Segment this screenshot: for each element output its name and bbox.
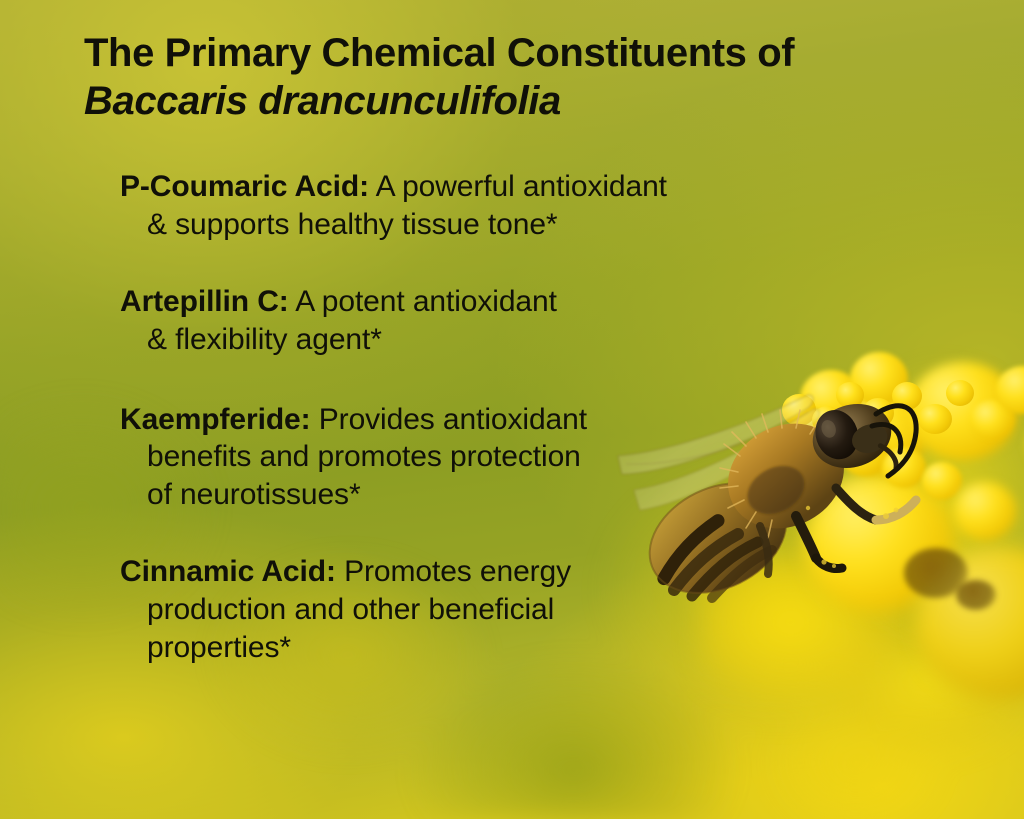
constituent-desc-line: of neurotissues*	[120, 476, 920, 514]
constituent-headline: Cinnamic Acid: Promotes energy	[120, 553, 920, 591]
constituents-list: P-Coumaric Acid: A powerful antioxidant …	[120, 168, 920, 666]
list-item: P-Coumaric Acid: A powerful antioxidant …	[120, 168, 920, 243]
constituent-desc-first: A potent antioxidant	[289, 285, 557, 318]
constituent-desc-first: A powerful antioxidant	[369, 170, 667, 203]
constituent-desc-line: properties*	[120, 629, 920, 667]
constituent-headline: Kaempferide: Provides antioxidant	[120, 401, 920, 439]
constituent-headline: P-Coumaric Acid: A powerful antioxidant	[120, 168, 920, 206]
text-content: The Primary Chemical Constituents of Bac…	[0, 0, 1024, 819]
constituent-term: Artepillin C:	[120, 285, 289, 318]
constituent-term: Cinnamic Acid:	[120, 555, 336, 588]
title-line-species: Baccaris drancunculifolia	[84, 78, 964, 124]
slide-title: The Primary Chemical Constituents of Bac…	[84, 30, 964, 125]
constituent-desc-line: production and other beneficial	[120, 591, 920, 629]
constituent-term: Kaempferide:	[120, 403, 311, 436]
constituent-desc-first: Promotes energy	[336, 555, 571, 588]
slide-canvas: The Primary Chemical Constituents of Bac…	[0, 0, 1024, 819]
list-item: Cinnamic Acid: Promotes energy productio…	[120, 553, 920, 666]
constituent-desc-line: & flexibility agent*	[120, 321, 920, 359]
list-item: Kaempferide: Provides antioxidant benefi…	[120, 401, 920, 514]
title-line-primary: The Primary Chemical Constituents of	[84, 30, 964, 76]
list-item: Artepillin C: A potent antioxidant & fle…	[120, 283, 920, 358]
constituent-desc-line: benefits and promotes protection	[120, 438, 920, 476]
constituent-term: P-Coumaric Acid:	[120, 170, 369, 203]
constituent-headline: Artepillin C: A potent antioxidant	[120, 283, 920, 321]
constituent-desc-line: & supports healthy tissue tone*	[120, 206, 920, 244]
constituent-desc-first: Provides antioxidant	[311, 403, 587, 436]
